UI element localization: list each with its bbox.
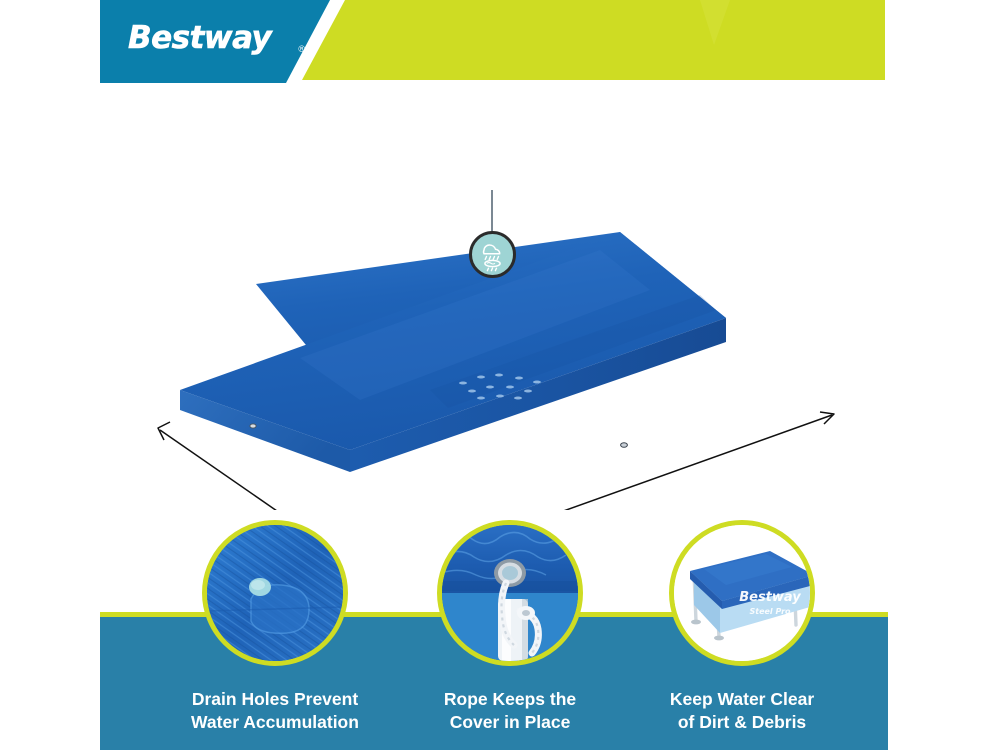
bestway-logo-text: Bestway bbox=[128, 16, 303, 60]
feature-callout-drain-holes: Drain Holes Prevent Water Accumulation bbox=[155, 520, 395, 666]
feature-callout-rope: Rope Keeps the Cover in Place bbox=[390, 520, 630, 666]
covered-pool-illustration-icon: Bestway Steel Pro bbox=[669, 520, 815, 666]
grommet-right bbox=[621, 443, 628, 448]
feature-callout-debris: Bestway Steel Pro Keep Water Clear of Di… bbox=[622, 520, 862, 666]
drain-hole-closeup-icon bbox=[202, 520, 348, 666]
pool-brand-label: Bestway bbox=[739, 590, 801, 605]
feature-caption-1: Drain Holes Prevent Water Accumulation bbox=[155, 688, 395, 734]
rain-cloud-icon bbox=[469, 231, 516, 278]
caption-line-2: of Dirt & Debris bbox=[622, 711, 862, 734]
rope-grommet-closeup-icon bbox=[437, 520, 583, 666]
header-lime-shape bbox=[302, 0, 885, 80]
bestway-logo: Bestway ® bbox=[128, 16, 303, 60]
product-image-page: Bestway ® bbox=[0, 0, 1000, 750]
caption-line-1: Rope Keeps the bbox=[390, 688, 630, 711]
grommet-left bbox=[250, 424, 256, 428]
feature-caption-3: Keep Water Clear of Dirt & Debris bbox=[622, 688, 862, 734]
caption-line-2: Cover in Place bbox=[390, 711, 630, 734]
caption-line-1: Keep Water Clear bbox=[622, 688, 862, 711]
feature-caption-2: Rope Keeps the Cover in Place bbox=[390, 688, 630, 734]
pool-cover-illustration bbox=[0, 90, 1000, 510]
caption-line-2: Water Accumulation bbox=[155, 711, 395, 734]
hero-product-area bbox=[0, 90, 1000, 510]
pool-model-label: Steel Pro bbox=[749, 607, 791, 616]
caption-line-1: Drain Holes Prevent bbox=[155, 688, 395, 711]
registered-mark: ® bbox=[298, 44, 305, 54]
header-banner: Bestway ® bbox=[0, 0, 1000, 90]
